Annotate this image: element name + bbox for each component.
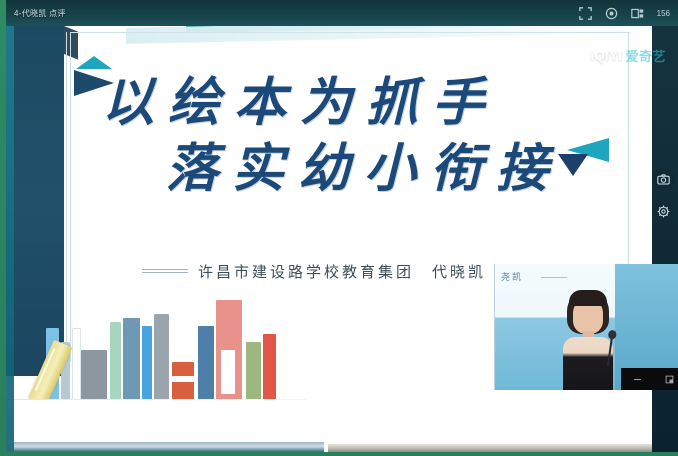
speaker-figure [557, 290, 619, 390]
book [154, 314, 169, 400]
bottom-accent-bar-right [328, 444, 678, 452]
slide-title-line-1: 以绘本为抓手 [102, 60, 498, 135]
pip-expand-icon[interactable] [665, 375, 674, 384]
book [246, 342, 261, 400]
slide-title-block: 以绘本为抓手 落实幼小衔接 [6, 26, 678, 216]
bookshelf-illustration [6, 304, 306, 400]
speaker-fringe [569, 290, 607, 306]
layout-switch-icon[interactable] [631, 7, 644, 20]
book [263, 334, 276, 400]
viewer-count: 156 [657, 9, 670, 18]
book [142, 326, 152, 400]
pip-control-bar [621, 368, 678, 390]
bottom-accent-bar-left [14, 442, 324, 452]
book [110, 322, 121, 400]
subtitle-rule-left [142, 269, 188, 273]
screenshot-camera-button[interactable] [652, 168, 674, 190]
book-stripe [172, 376, 194, 382]
book [123, 318, 140, 400]
camera-icon [657, 173, 670, 186]
window-title: 4-代晓凯 点评 [6, 8, 66, 19]
pip-minimize-icon[interactable] [633, 375, 642, 384]
book [198, 326, 214, 400]
pip-speaker-label: 尧凯 [501, 270, 523, 283]
book [81, 350, 107, 400]
side-tool-buttons [652, 168, 674, 222]
speaker-clothing [563, 337, 613, 390]
pip-speaker-label-rule [541, 277, 567, 278]
slide-title-line-2: 落实幼小衔接 [166, 126, 562, 201]
left-teal-edge [6, 26, 14, 452]
video-surface[interactable]: 4-代晓凯 点评 156 [6, 0, 678, 452]
book-stripe [221, 350, 235, 394]
slide-subtitle: 许昌市建设路学校教育集团 代晓凯 [198, 261, 486, 282]
settings-gear-button[interactable] [652, 200, 674, 222]
speaker-video-pip[interactable]: 尧凯 [494, 264, 678, 390]
gear-icon [657, 205, 670, 218]
player-top-bar: 4-代晓凯 点评 156 [6, 0, 678, 26]
fullscreen-toggle-icon[interactable] [579, 7, 592, 20]
video-player-window: 4-代晓凯 点评 156 [0, 0, 678, 456]
record-icon[interactable] [605, 7, 618, 20]
book [72, 328, 81, 400]
player-top-bar-controls: 156 [579, 7, 678, 20]
